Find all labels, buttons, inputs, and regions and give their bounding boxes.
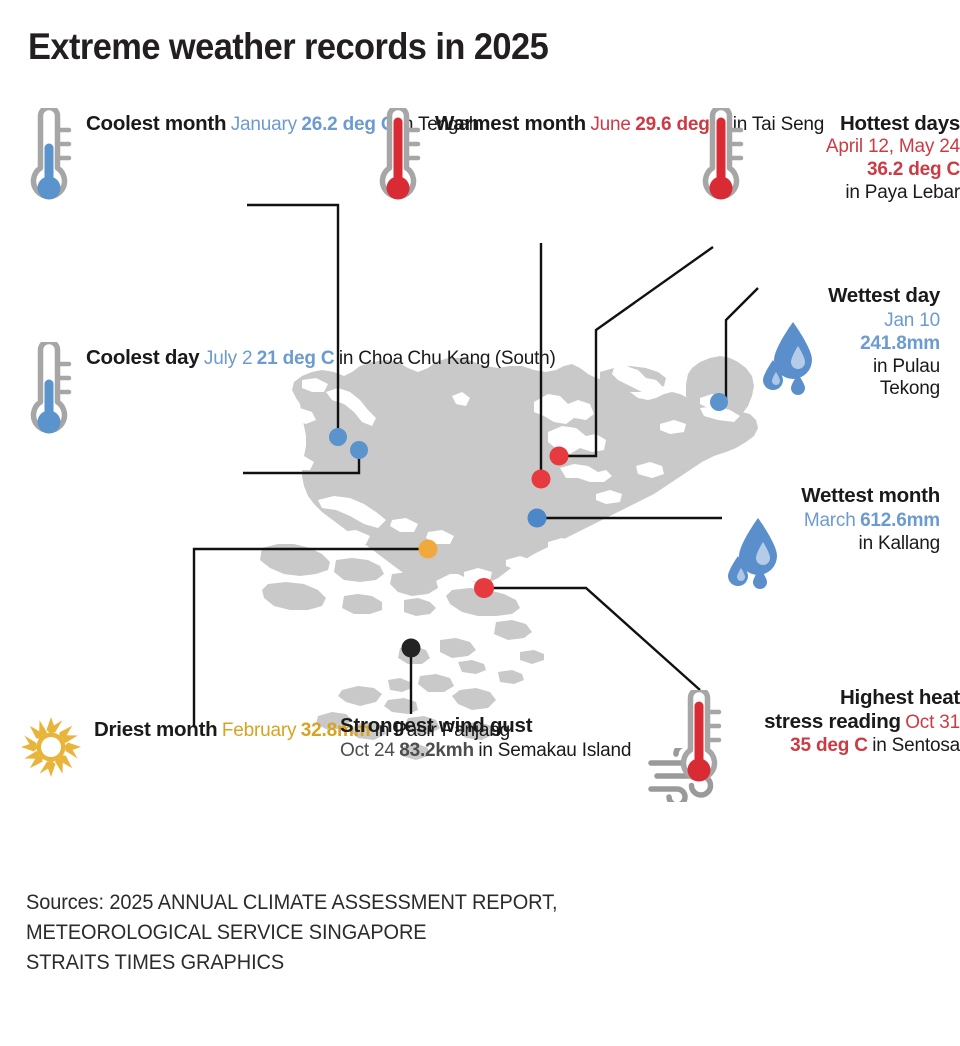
callout-heading: Coolest month: [86, 112, 226, 135]
callout-wettest-day: Wettest day Jan 10 241.8mm in Pulau Teko…: [760, 284, 940, 407]
callout-date: Jan 10: [884, 310, 940, 331]
callout-location-line2: Tekong: [880, 378, 940, 399]
sun-icon: [20, 716, 82, 783]
sources-line-2: METEOROLOGICAL SERVICE SINGAPORE: [26, 918, 557, 948]
water-drop-icon: [760, 316, 822, 407]
marker-highest-heat-stress: [474, 578, 494, 598]
marker-warmest-month: [532, 470, 551, 489]
callout-heading: Driest month: [94, 718, 217, 741]
callout-heading: Wettest month: [801, 484, 940, 507]
thermometer-icon: [26, 108, 72, 225]
callout-location: in Kallang: [859, 533, 940, 554]
callout-date: Oct 31: [905, 712, 960, 733]
callout-value: 21 deg C: [257, 348, 335, 369]
callout-date: January: [231, 114, 297, 135]
callout-value: 35 deg C: [790, 735, 868, 756]
callout-heading: Strongest wind gust: [340, 714, 532, 737]
sources-footer: Sources: 2025 ANNUAL CLIMATE ASSESSMENT …: [26, 888, 557, 977]
callout-date: March: [804, 510, 856, 531]
callout-heading: Coolest day: [86, 346, 199, 369]
callout-date: April 12, May 24: [826, 136, 960, 157]
marker-strongest-wind-gust: [402, 639, 421, 658]
callout-coolest-day: Coolest day July 2 21 deg C in Choa Chu …: [26, 342, 556, 459]
callout-date: June: [590, 114, 630, 135]
callout-value: 612.6mm: [860, 510, 940, 531]
callout-heading: Hottest days: [840, 112, 960, 135]
thermometer-icon: [676, 690, 722, 807]
callout-strongest-wind-gust: Strongest wind gust Oct 24 83.2kmh in Se…: [340, 714, 723, 807]
callout-location-line2: Chu Kang: [407, 348, 490, 369]
marker-driest-month: [419, 540, 438, 559]
callout-date: Oct 24: [340, 740, 395, 761]
callout-location: in Semakau Island: [478, 740, 631, 761]
callout-date: July 2: [204, 348, 252, 369]
callout-heading-line1: Highest heat: [840, 686, 960, 709]
water-drop-icon: [722, 514, 784, 599]
callout-value: 83.2kmh: [399, 740, 474, 761]
marker-wettest-month: [528, 509, 547, 528]
thermometer-icon: [698, 108, 744, 225]
callout-heading: Warmest month: [435, 112, 586, 135]
callout-wettest-month: Wettest month March 612.6mm in Kallang: [722, 484, 940, 599]
callout-location-line1: in Pulau: [873, 356, 940, 377]
thermometer-icon: [26, 342, 72, 459]
callout-location-line1: in Choa: [339, 348, 403, 369]
marker-wettest-day: [710, 393, 728, 411]
callout-hottest-days: Hottest days April 12, May 24 36.2 deg C…: [698, 108, 960, 225]
callout-heading-line2: stress reading: [764, 710, 901, 733]
thermometer-icon: [375, 108, 421, 225]
callout-highest-heat-stress: Highest heat stress reading Oct 31 35 de…: [676, 686, 960, 807]
callout-date: February: [222, 720, 296, 741]
infographic-root: Extreme weather records in 2025: [0, 0, 960, 1046]
callout-location: in Sentosa: [872, 735, 960, 756]
callout-heading: Wettest day: [828, 284, 940, 307]
callout-value: 36.2 deg C: [867, 159, 960, 180]
sources-line-3: STRAITS TIMES GRAPHICS: [26, 948, 557, 978]
callout-value: 241.8mm: [860, 333, 940, 354]
callout-location: in Paya Lebar: [845, 182, 960, 203]
sources-line-1: Sources: 2025 ANNUAL CLIMATE ASSESSMENT …: [26, 888, 557, 918]
callout-location-line3: (South): [495, 348, 556, 369]
